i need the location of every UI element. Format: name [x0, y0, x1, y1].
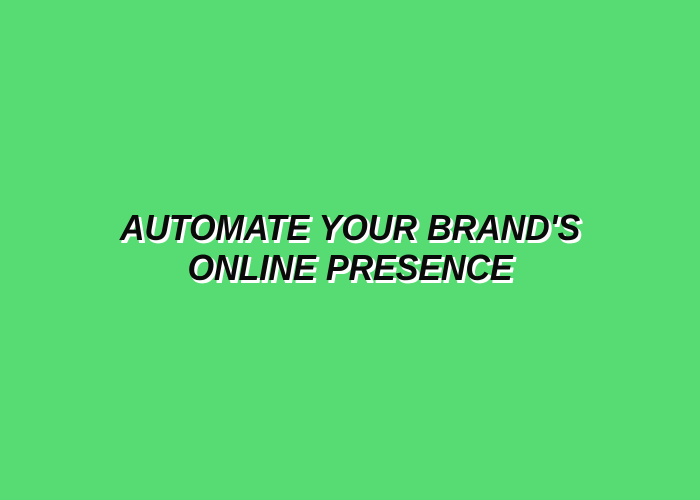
- page-title: AUTOMATE YOUR BRAND'S ONLINE PRESENCE: [65, 208, 635, 288]
- headline-block: AUTOMATE YOUR BRAND'S ONLINE PRESENCE: [50, 208, 650, 288]
- promo-banner: AUTOMATE YOUR BRAND'S ONLINE PRESENCE: [0, 0, 700, 500]
